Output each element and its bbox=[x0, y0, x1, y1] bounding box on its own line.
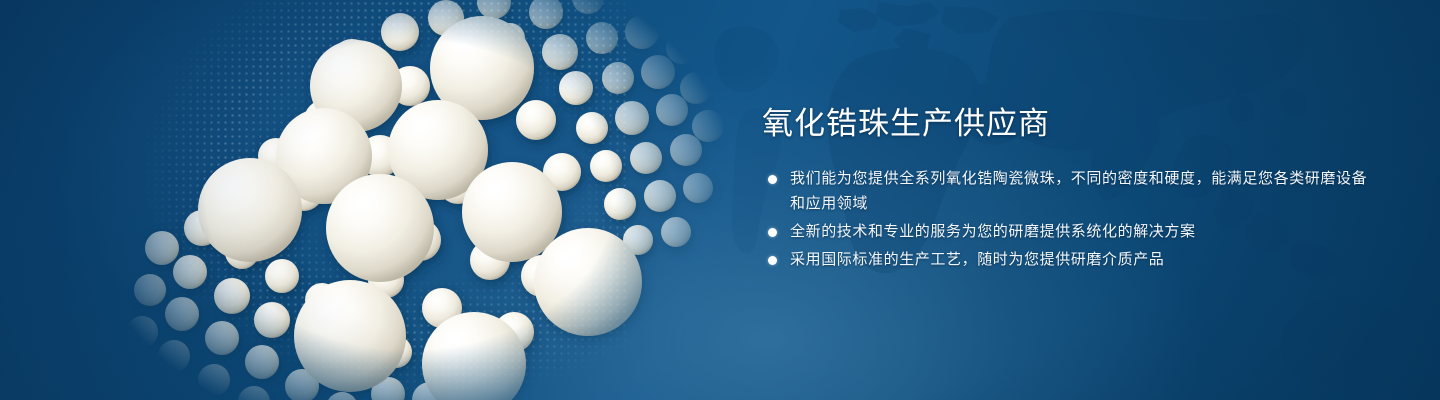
bullet-dot-icon bbox=[768, 256, 777, 265]
feature-text: 采用国际标准的生产工艺，随时为您提供研磨介质产品 bbox=[790, 251, 1164, 268]
hero-banner: 氧化锆珠生产供应商 我们能为您提供全系列氧化锆陶瓷微珠，不同的密度和硬度，能满足… bbox=[0, 0, 1440, 400]
feature-text: 我们能为您提供全系列氧化锆陶瓷微珠，不同的密度和硬度，能满足您各类研磨设备和应用… bbox=[790, 170, 1367, 212]
feature-text: 全新的技术和专业的服务为您的研磨提供系统化的解决方案 bbox=[790, 223, 1196, 240]
banner-content: 氧化锆珠生产供应商 我们能为您提供全系列氧化锆陶瓷微珠，不同的密度和硬度，能满足… bbox=[762, 104, 1382, 275]
bullet-dot-icon bbox=[768, 175, 777, 184]
bullet-dot-icon bbox=[768, 228, 777, 237]
banner-headline: 氧化锆珠生产供应商 bbox=[762, 104, 1382, 144]
feature-list-item: 我们能为您提供全系列氧化锆陶瓷微珠，不同的密度和硬度，能满足您各类研磨设备和应用… bbox=[762, 166, 1382, 216]
feature-list-item: 采用国际标准的生产工艺，随时为您提供研磨介质产品 bbox=[762, 247, 1382, 272]
feature-list: 我们能为您提供全系列氧化锆陶瓷微珠，不同的密度和硬度，能满足您各类研磨设备和应用… bbox=[762, 166, 1382, 272]
feature-list-item: 全新的技术和专业的服务为您的研磨提供系统化的解决方案 bbox=[762, 219, 1382, 244]
